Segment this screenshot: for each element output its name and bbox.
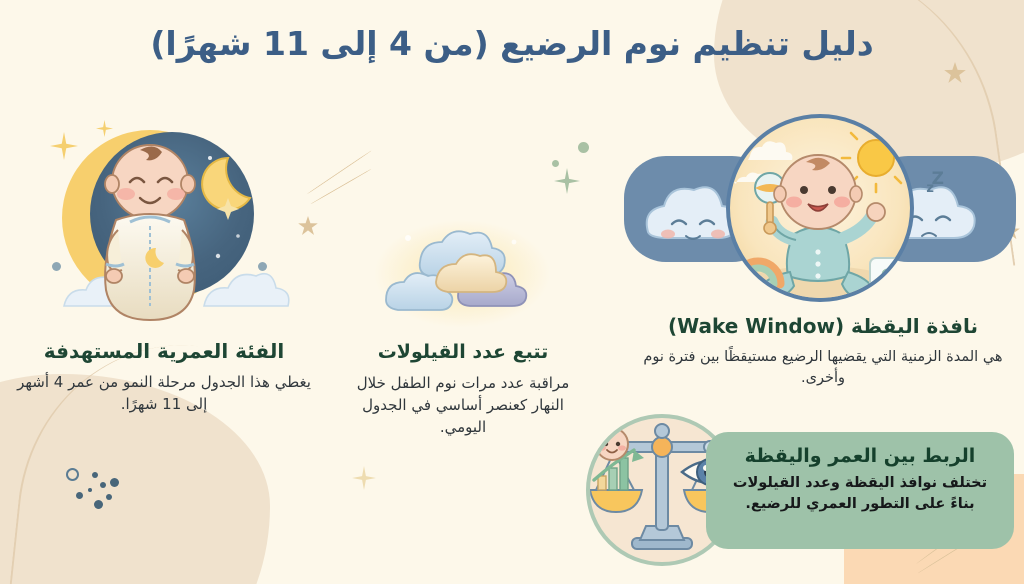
section-age-group-heading: الفئة العمرية المستهدفة (8, 338, 320, 364)
cluster-dot-3 (100, 482, 106, 488)
section-wake-window-body: هي المدة الزمنية التي يقضيها الرضيع مستي… (630, 347, 1016, 390)
sleeping-baby-illustration (32, 110, 300, 326)
cluster-dot-1 (92, 472, 98, 478)
highlight-card-body: تختلف نوافذ اليقظة وعدد القيلولات بناءً … (724, 473, 996, 515)
cluster-dot-6 (94, 500, 103, 509)
highlight-card: الربط بين العمر واليقظة تختلف نوافذ اليق… (706, 432, 1014, 549)
shooting-star-trail-a (306, 150, 371, 194)
cluster-dot-2 (110, 478, 119, 487)
section-wake-window-heading: نافذة اليقظة (Wake Window) (630, 313, 1016, 339)
stacked-clouds-illustration (374, 216, 550, 328)
section-naps-count-body: مراقبة عدد مرات نوم الطفل خلال النهار كع… (344, 372, 582, 439)
section-naps-count-heading: تتبع عدد القيلولات (344, 340, 582, 365)
section-age-group: الفئة العمرية المستهدفة يغطي هذا الجدول … (8, 338, 320, 415)
cluster-dot-5 (76, 492, 83, 499)
sparkle-icon-green-1 (554, 168, 580, 194)
star-icon-mid-left (298, 216, 318, 236)
infographic-canvas: دليل تنظيم نوم الرضيع (من 4 إلى 11 شهرًا… (0, 0, 1024, 584)
section-naps-count: تتبع عدد القيلولات مراقبة عدد مرات نوم ا… (344, 340, 582, 438)
dot-green-1 (578, 142, 589, 153)
cluster-dot-4 (88, 488, 92, 492)
section-age-group-body: يغطي هذا الجدول مرحلة النمو من عمر 4 أشه… (8, 371, 320, 415)
wake-window-illustration: z Z (624, 112, 1016, 308)
highlight-card-heading: الربط بين العمر واليقظة (724, 445, 996, 467)
cluster-dot-7 (106, 494, 112, 500)
section-wake-window: نافذة اليقظة (Wake Window) هي المدة الزم… (630, 313, 1016, 390)
shooting-star-trail-b (310, 169, 371, 205)
ring-dot-icon (66, 468, 79, 481)
page-title: دليل تنظيم نوم الرضيع (من 4 إلى 11 شهرًا… (0, 22, 1024, 66)
sparkle-icon-yellow-3 (352, 466, 376, 490)
dot-green-2 (552, 160, 559, 167)
svg-text:Z: Z (932, 169, 944, 189)
